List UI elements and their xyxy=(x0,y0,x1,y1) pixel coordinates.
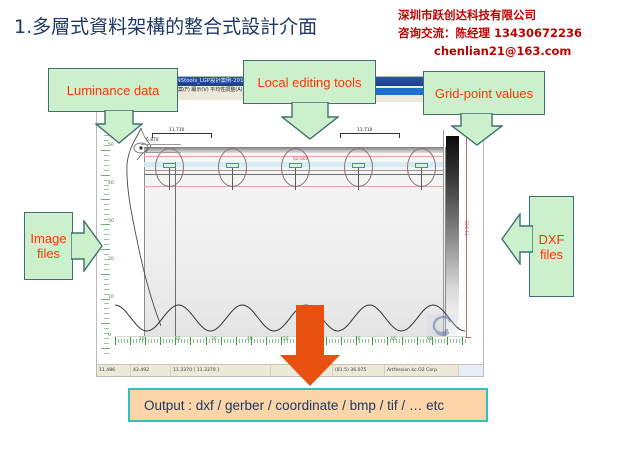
ruler-tick xyxy=(209,339,210,343)
horizontal-ruler-label: 40 xyxy=(247,337,253,342)
ruler-tick xyxy=(193,339,194,343)
ruler-tick xyxy=(227,339,228,343)
ruler-tick xyxy=(381,339,382,343)
ruler-tick xyxy=(365,339,366,343)
ruler-tick xyxy=(203,339,204,343)
grid-point-stem xyxy=(421,168,422,190)
ruler-tick xyxy=(245,339,246,343)
ruler-tick xyxy=(450,339,451,343)
ruler-tick xyxy=(462,337,463,345)
callout-image-files-arrow xyxy=(71,220,103,272)
ruler-tick xyxy=(368,339,369,343)
ruler-tick xyxy=(200,339,201,343)
ruler-tick xyxy=(169,339,170,343)
ruler-tick xyxy=(423,339,424,343)
ruler-tick xyxy=(218,339,219,343)
dimension-label-62000: 62.000 xyxy=(293,157,308,162)
dimension-line-2 xyxy=(340,133,400,134)
output-flow-arrow xyxy=(279,305,341,387)
ruler-tick xyxy=(414,339,415,343)
statusbar-segment: Artfession kc O2 Corp. xyxy=(385,365,459,376)
ruler-tick xyxy=(399,339,400,343)
ruler-tick xyxy=(187,339,188,343)
grid-point-stem xyxy=(232,168,233,190)
ruler-tick xyxy=(438,339,439,343)
vertical-dimension-label: 326.11 xyxy=(463,220,468,236)
ruler-tick xyxy=(260,339,261,343)
ruler-tick xyxy=(154,339,155,343)
dimension-witness-2 xyxy=(211,133,212,138)
ruler-tick xyxy=(384,339,385,343)
callout-grid-point-values-label: Grid-point values xyxy=(435,86,533,101)
ruler-tick xyxy=(230,339,231,343)
ruler-tick xyxy=(269,339,270,343)
ruler-tick xyxy=(341,337,342,345)
dimension-label-11710-a: 11.710 xyxy=(169,128,184,133)
ruler-tick xyxy=(435,339,436,343)
cad-menubar-label: 檔案(F) 顯示(V) 平均性調整(A) xyxy=(173,86,243,95)
callout-image-files-label-line2: files xyxy=(37,246,60,261)
ruler-tick xyxy=(172,339,173,343)
callout-local-editing-tools-arrow xyxy=(281,102,339,140)
ruler-tick xyxy=(151,339,152,343)
ruler-tick xyxy=(347,339,348,343)
callout-image-files[interactable]: Image files xyxy=(24,212,73,280)
ruler-tick xyxy=(239,339,240,343)
ruler-tick xyxy=(121,339,122,343)
ruler-tick xyxy=(456,339,457,343)
ruler-tick xyxy=(263,339,264,343)
ruler-tick xyxy=(224,339,225,343)
horizontal-ruler-label: 30 xyxy=(211,337,217,342)
node-leader-line-2 xyxy=(141,152,181,153)
dimension-witness-3 xyxy=(340,133,341,138)
callout-luminance-data-arrow xyxy=(95,110,143,144)
ruler-tick xyxy=(133,339,134,343)
callout-dxf-files-arrow xyxy=(501,213,533,265)
ruler-tick xyxy=(417,337,418,345)
ruler-tick xyxy=(387,337,388,345)
ruler-tick xyxy=(266,337,267,345)
ruler-tick xyxy=(184,339,185,343)
ruler-tick xyxy=(163,339,164,343)
ruler-tick xyxy=(411,339,412,343)
ruler-tick xyxy=(233,339,234,343)
ruler-tick xyxy=(375,339,376,343)
statusbar-segment: 11.3370 [ 11.3370 ] xyxy=(171,365,271,376)
ruler-tick xyxy=(130,337,131,345)
grid-point-stem xyxy=(358,168,359,190)
ruler-tick xyxy=(447,337,448,345)
ruler-tick xyxy=(157,339,158,343)
horizontal-ruler-label: 80 xyxy=(391,337,397,342)
callout-local-editing-tools-label: Local editing tools xyxy=(257,75,361,90)
company-info-block: 深圳市跃创达科技有限公司 咨询交流：陈经理 13430672236 chenli… xyxy=(398,8,638,58)
ruler-tick xyxy=(402,337,403,345)
ruler-tick xyxy=(104,353,109,354)
ruler-tick xyxy=(197,339,198,343)
page-title: 1.多層式資料架構的整合式設計介面 xyxy=(14,12,317,39)
company-contact: 咨询交流：陈经理 13430672236 xyxy=(398,25,638,41)
cad-titlebar-label: CNStools_LGP設計案例-2010- xyxy=(173,77,249,86)
callout-local-editing-tools[interactable]: Local editing tools xyxy=(243,60,376,104)
ruler-tick xyxy=(441,339,442,343)
horizontal-ruler-label: 90 xyxy=(427,337,433,342)
ruler-tick xyxy=(136,339,137,343)
ruler-tick xyxy=(148,339,149,343)
callout-dxf-files-label-line1: DXF xyxy=(539,232,565,247)
ruler-tick xyxy=(166,339,167,343)
statusbar-segment: 11.486 xyxy=(97,365,131,376)
callout-dxf-files[interactable]: DXF files xyxy=(529,196,574,297)
statusbar-segment: 43.492 xyxy=(131,365,171,376)
output-formats-bar: Output : dxf / gerber / coordinate / bmp… xyxy=(128,388,488,422)
callout-grid-point-values[interactable]: Grid-point values xyxy=(423,71,545,115)
output-formats-label: Output : dxf / gerber / coordinate / bmp… xyxy=(144,398,444,413)
callout-grid-point-values-arrow xyxy=(451,113,503,146)
dimension-label-11710-b: 11.710 xyxy=(357,128,372,133)
statusbar-segment xyxy=(459,365,484,376)
grid-point-stem xyxy=(295,168,296,190)
ruler-tick xyxy=(459,339,460,343)
callout-luminance-data[interactable]: Luminance data xyxy=(48,68,178,112)
ruler-tick xyxy=(344,339,345,343)
ruler-tick xyxy=(124,339,125,343)
ruler-tick xyxy=(272,339,273,343)
ruler-tick xyxy=(465,339,466,343)
callout-image-files-label-line1: Image xyxy=(30,231,66,246)
ruler-tick xyxy=(206,337,207,345)
ruler-tick xyxy=(257,339,258,343)
grid-point-stem xyxy=(169,168,170,190)
ruler-tick xyxy=(242,339,243,343)
ruler-tick xyxy=(160,337,161,345)
ruler-tick xyxy=(236,337,237,345)
ruler-tick xyxy=(420,339,421,343)
callout-dxf-files-label-line2: files xyxy=(540,247,563,262)
dimension-witness-4 xyxy=(399,133,400,138)
ruler-tick xyxy=(127,339,128,343)
ruler-tick xyxy=(101,348,110,349)
slide-root: 1.多層式資料架構的整合式設計介面 深圳市跃创达科技有限公司 咨询交流：陈经理 … xyxy=(0,0,640,469)
horizontal-ruler-label: 70 xyxy=(355,337,361,342)
horizontal-ruler-label: 20 xyxy=(175,337,181,342)
company-email: chenlian21@163.com xyxy=(434,44,638,58)
ruler-tick xyxy=(221,337,222,345)
ruler-tick xyxy=(275,339,276,343)
ruler-tick xyxy=(405,339,406,343)
ruler-tick xyxy=(372,337,373,345)
ruler-tick xyxy=(254,339,255,343)
ruler-tick xyxy=(444,339,445,343)
company-name: 深圳市跃创达科技有限公司 xyxy=(398,8,638,23)
ruler-tick xyxy=(453,339,454,343)
ruler-tick xyxy=(118,339,119,343)
ruler-tick xyxy=(362,339,363,343)
ruler-tick xyxy=(104,343,109,344)
ruler-tick xyxy=(115,337,116,345)
ruler-tick xyxy=(181,339,182,343)
ruler-tick xyxy=(378,339,379,343)
ruler-tick xyxy=(145,337,146,345)
ruler-tick xyxy=(408,339,409,343)
callout-luminance-data-label: Luminance data xyxy=(67,83,160,98)
horizontal-ruler-label: 10 xyxy=(139,337,145,342)
node-leader-line-1 xyxy=(141,144,181,145)
ruler-tick xyxy=(190,337,191,345)
ruler-tick xyxy=(350,339,351,343)
